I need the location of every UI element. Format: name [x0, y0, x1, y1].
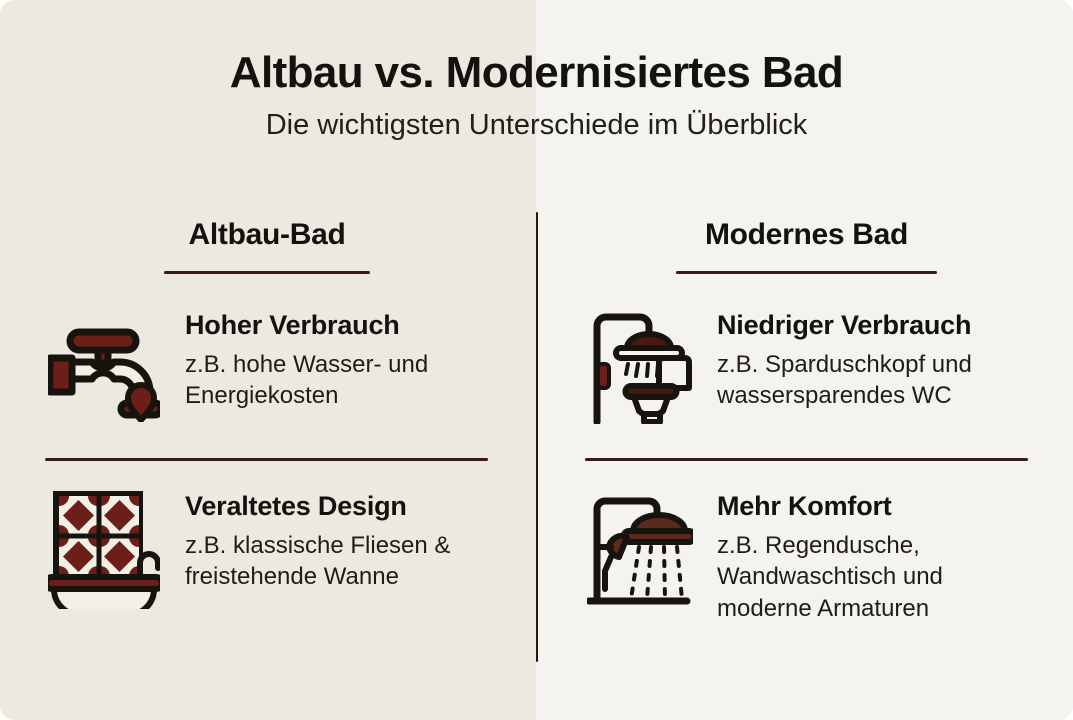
column-modern: Modernes Bad	[585, 218, 1028, 625]
column-altbau: Altbau-Bad	[45, 218, 489, 611]
column-heading-altbau: Altbau-Bad	[45, 218, 489, 253]
list-item-text: Hoher Verbrauch z.B. hohe Wasser- und En…	[185, 308, 489, 413]
list-item-title: Mehr Komfort	[717, 491, 1028, 522]
column-heading-underline-modern	[676, 271, 937, 274]
list-item-description: z.B. Regendusche, Wandwaschtisch und mod…	[717, 530, 1028, 626]
row-separator	[45, 458, 488, 461]
infographic-canvas: Altbau vs. Modernisiertes Bad Die wichti…	[0, 0, 1073, 720]
column-heading-underline-altbau	[164, 271, 370, 274]
list-item: Mehr Komfort z.B. Regendusche, Wandwasch…	[585, 489, 1028, 626]
list-item-description: z.B. klassische Fliesen & freistehende W…	[185, 530, 489, 594]
list-item-title: Hoher Verbrauch	[185, 310, 489, 341]
list-item: Veraltetes Design z.B. klassische Fliese…	[45, 489, 489, 611]
list-item-text: Veraltetes Design z.B. klassische Fliese…	[185, 489, 489, 594]
list-item: Niedriger Verbrauch z.B. Sparduschkopf u…	[585, 308, 1028, 430]
clawfoot-bathtub-tiles-icon	[45, 489, 163, 611]
column-heading-modern: Modernes Bad	[585, 218, 1028, 253]
page-title: Altbau vs. Modernisiertes Bad	[0, 0, 1073, 97]
header: Altbau vs. Modernisiertes Bad Die wichti…	[0, 0, 1073, 143]
shower-toilet-icon	[585, 308, 695, 430]
list-item-title: Niedriger Verbrauch	[717, 310, 1028, 341]
row-separator	[585, 458, 1028, 461]
list-item-description: z.B. Sparduschkopf und wassersparendes W…	[717, 349, 1028, 413]
list-item-title: Veraltetes Design	[185, 491, 489, 522]
faucet-drip-icon	[45, 308, 163, 430]
vertical-divider	[536, 212, 538, 662]
list-item-description: z.B. hohe Wasser- und Energiekosten	[185, 349, 489, 413]
list-item-text: Mehr Komfort z.B. Regendusche, Wandwasch…	[717, 489, 1028, 626]
list-item-text: Niedriger Verbrauch z.B. Sparduschkopf u…	[717, 308, 1028, 413]
page-subtitle: Die wichtigsten Unterschiede im Überblic…	[0, 97, 1073, 143]
rain-shower-icon	[585, 489, 695, 611]
list-item: Hoher Verbrauch z.B. hohe Wasser- und En…	[45, 308, 489, 430]
